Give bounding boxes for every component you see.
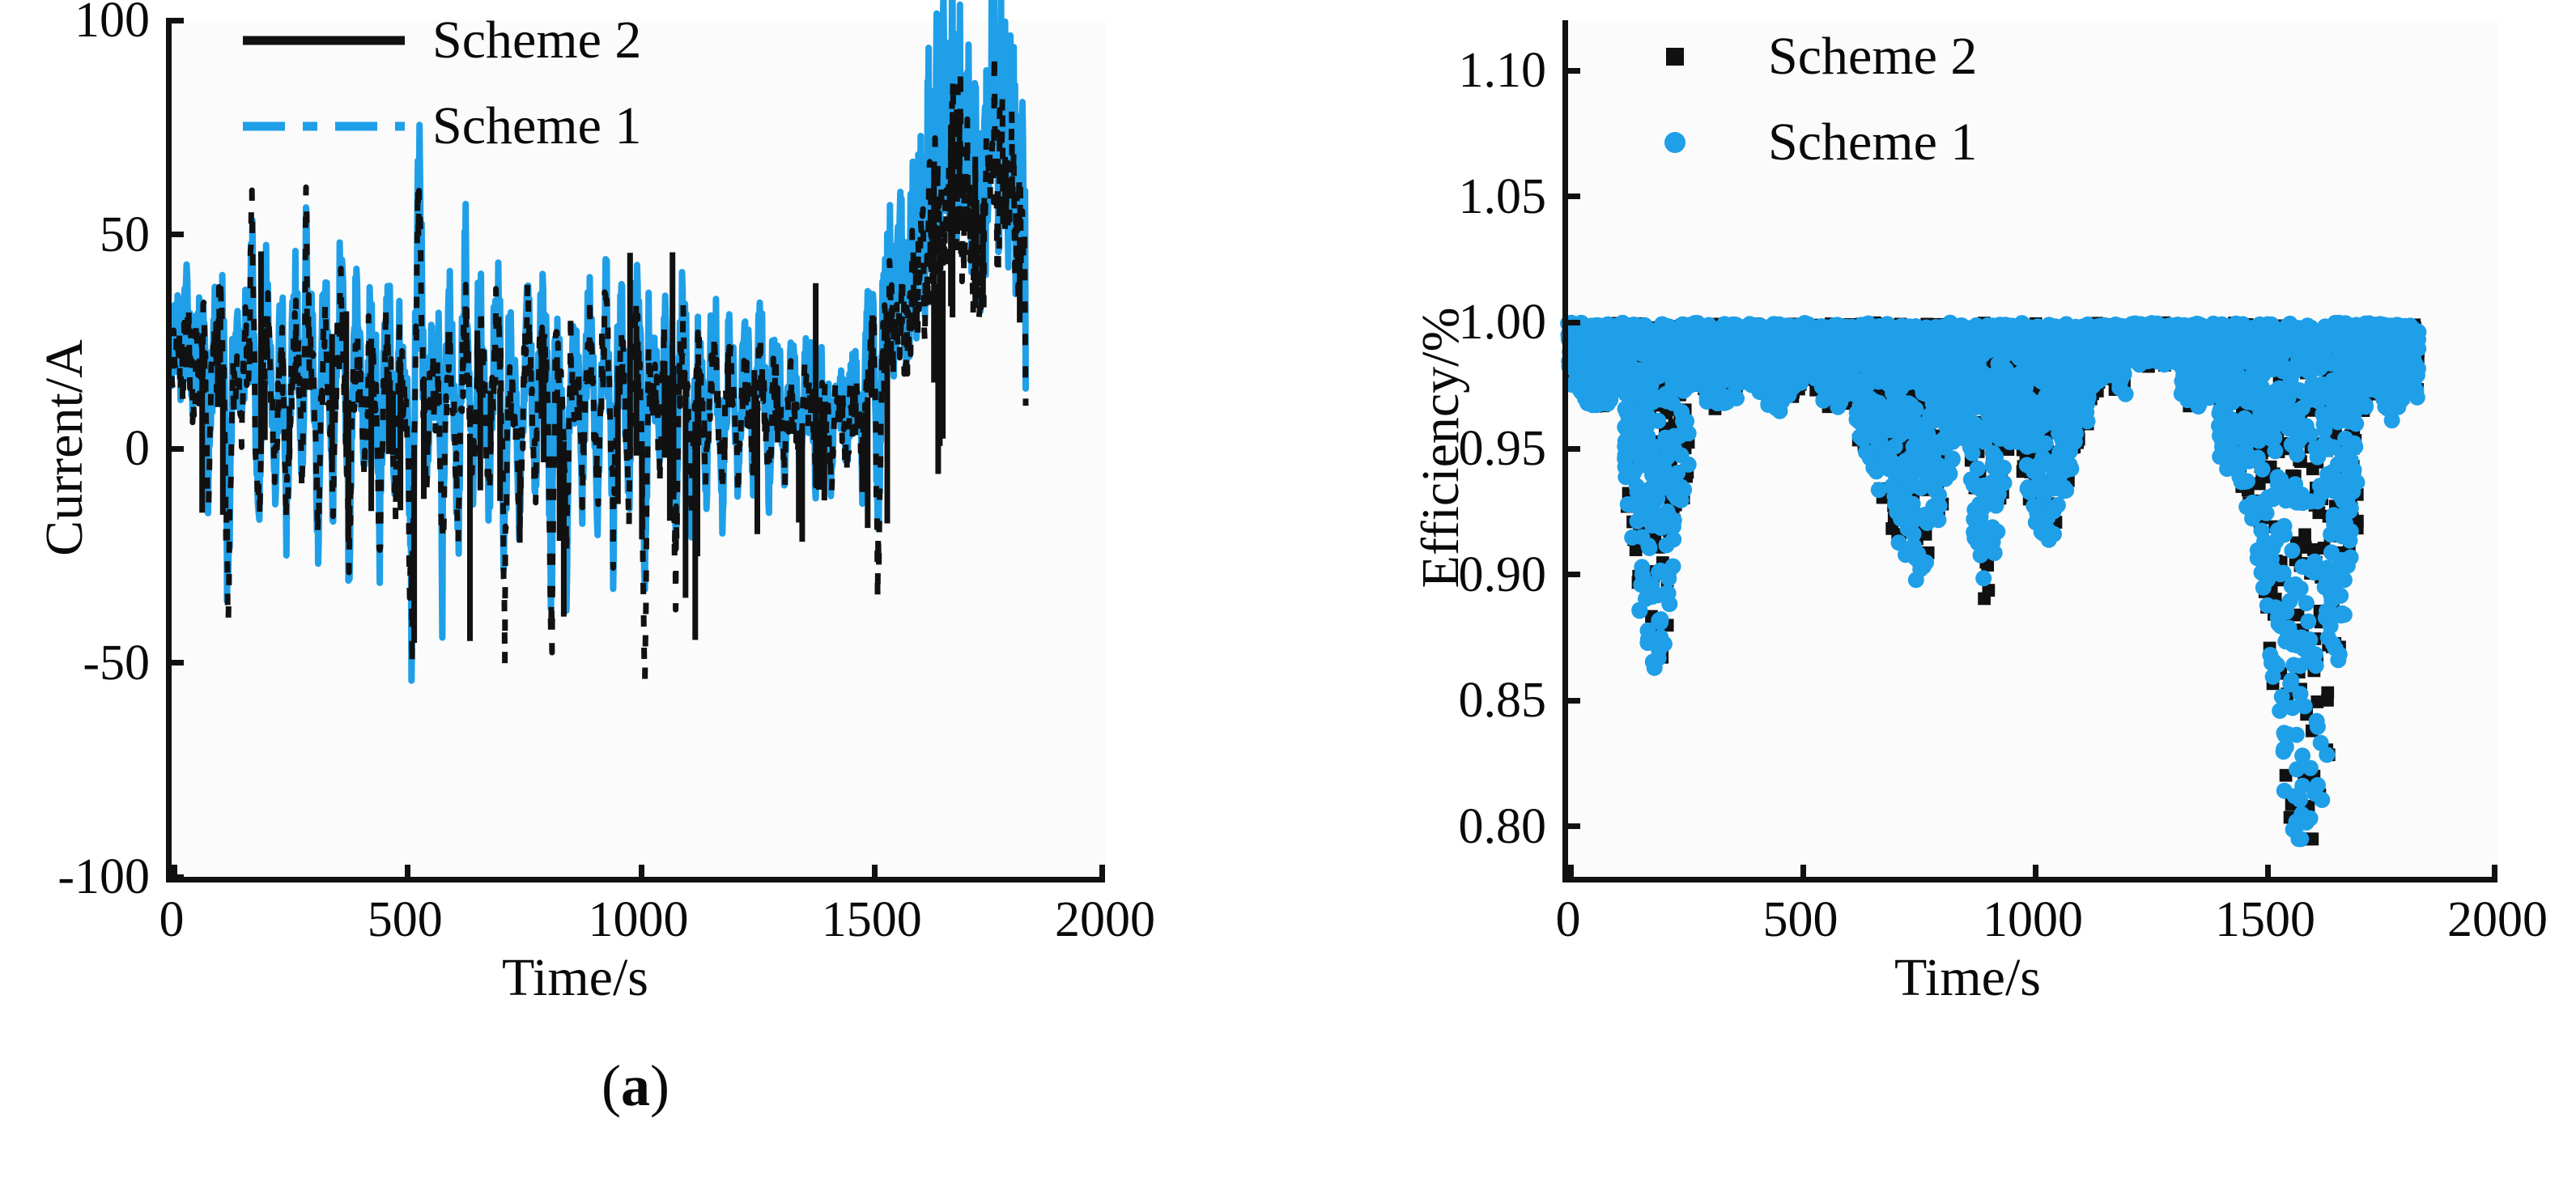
caption-a: (a) — [0, 1053, 1271, 1120]
y-tick-label-a: -100 — [0, 852, 150, 902]
y-tick-a — [166, 232, 184, 237]
caption-a-letter: a — [621, 1053, 650, 1118]
x-tick-a — [872, 865, 878, 882]
y-tick-a — [166, 18, 184, 23]
legend-entry-scheme2-a: Scheme 2 — [243, 8, 641, 73]
x-tick-label-a: 1500 — [822, 895, 922, 945]
solid-line-swatch-icon — [243, 24, 405, 57]
y-axis-title-a: Current/A — [38, 278, 91, 618]
dashdot-line-swatch-icon — [243, 110, 405, 142]
x-tick-a — [405, 865, 410, 882]
scatter-point — [1618, 404, 1634, 420]
scatter-point — [2321, 694, 2334, 707]
scatter-point — [2287, 476, 2303, 492]
x-tick-label-a: 2000 — [1055, 895, 1155, 945]
legend-a: Scheme 2 Scheme 1 — [243, 8, 641, 159]
scatter-point — [2301, 632, 2317, 648]
panel-a-current-chart: -100-50050100 0500100015002000 Current/A… — [0, 0, 1271, 1178]
scatter-point — [2244, 510, 2260, 526]
scatter-point — [2300, 614, 2316, 630]
x-tick-label-a: 500 — [368, 895, 443, 945]
x-tick-label-a: 1000 — [589, 895, 689, 945]
legend-label-scheme2-a: Scheme 2 — [432, 10, 641, 71]
caption-a-close: ) — [650, 1053, 670, 1118]
scatter-point — [1975, 570, 1992, 586]
y-tick-label-a: -50 — [0, 638, 150, 688]
y-tick-a — [166, 660, 184, 666]
y-tick-label-a: 100 — [0, 0, 150, 45]
x-tick-label-a: 0 — [159, 895, 185, 945]
x-tick-a — [639, 865, 644, 882]
x-axis-title-a: Time/s — [502, 951, 648, 1005]
scatter-point — [2298, 529, 2311, 542]
x-tick-a — [172, 865, 177, 882]
scatter-point — [2299, 541, 2312, 554]
legend-entry-scheme1-a: Scheme 1 — [243, 94, 641, 159]
panel-b-efficiency-chart: 0.800.850.900.951.001.051.10 05001000150… — [1295, 0, 2576, 1178]
y-tick-label-a: 50 — [0, 210, 150, 260]
y-tick-a — [166, 446, 184, 452]
figure-root: -100-50050100 0500100015002000 Current/A… — [0, 0, 2576, 1178]
legend-label-scheme1-a: Scheme 1 — [432, 96, 641, 157]
scatter-point — [1871, 482, 1887, 498]
caption-a-open: ( — [601, 1053, 621, 1118]
x-tick-a — [1099, 865, 1105, 882]
scatter-group-circle — [1560, 315, 2426, 848]
scatter-point — [1978, 593, 1991, 606]
